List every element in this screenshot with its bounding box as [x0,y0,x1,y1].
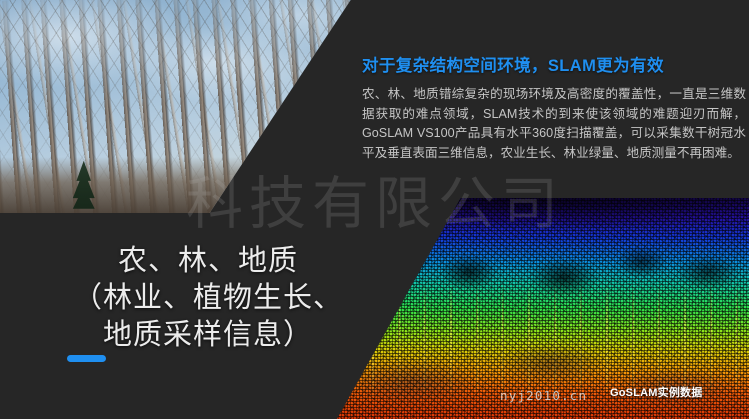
page-title: 农、林、地质 （林业、植物生长、 地质采样信息） [58,243,358,354]
forest-photo [0,0,352,213]
forest-photo-ground [0,157,352,213]
presentation-slide: 科技有限公司 对于复杂结构空间环境，SLAM更为有效 农、林、地质错综复杂的现场… [0,0,749,419]
accent-underline-bar [67,355,106,362]
section-heading: 对于复杂结构空间环境，SLAM更为有效 [362,52,746,76]
section-body-text: 农、林、地质错综复杂的现场环境及高密度的覆盖性，一直是三维数据获取的难点领域，S… [362,85,746,163]
point-cloud-caption: GoSLAM实例数据 [610,384,702,400]
right-text-block: 对于复杂结构空间环境，SLAM更为有效 农、林、地质错综复杂的现场环境及高密度的… [362,52,746,163]
